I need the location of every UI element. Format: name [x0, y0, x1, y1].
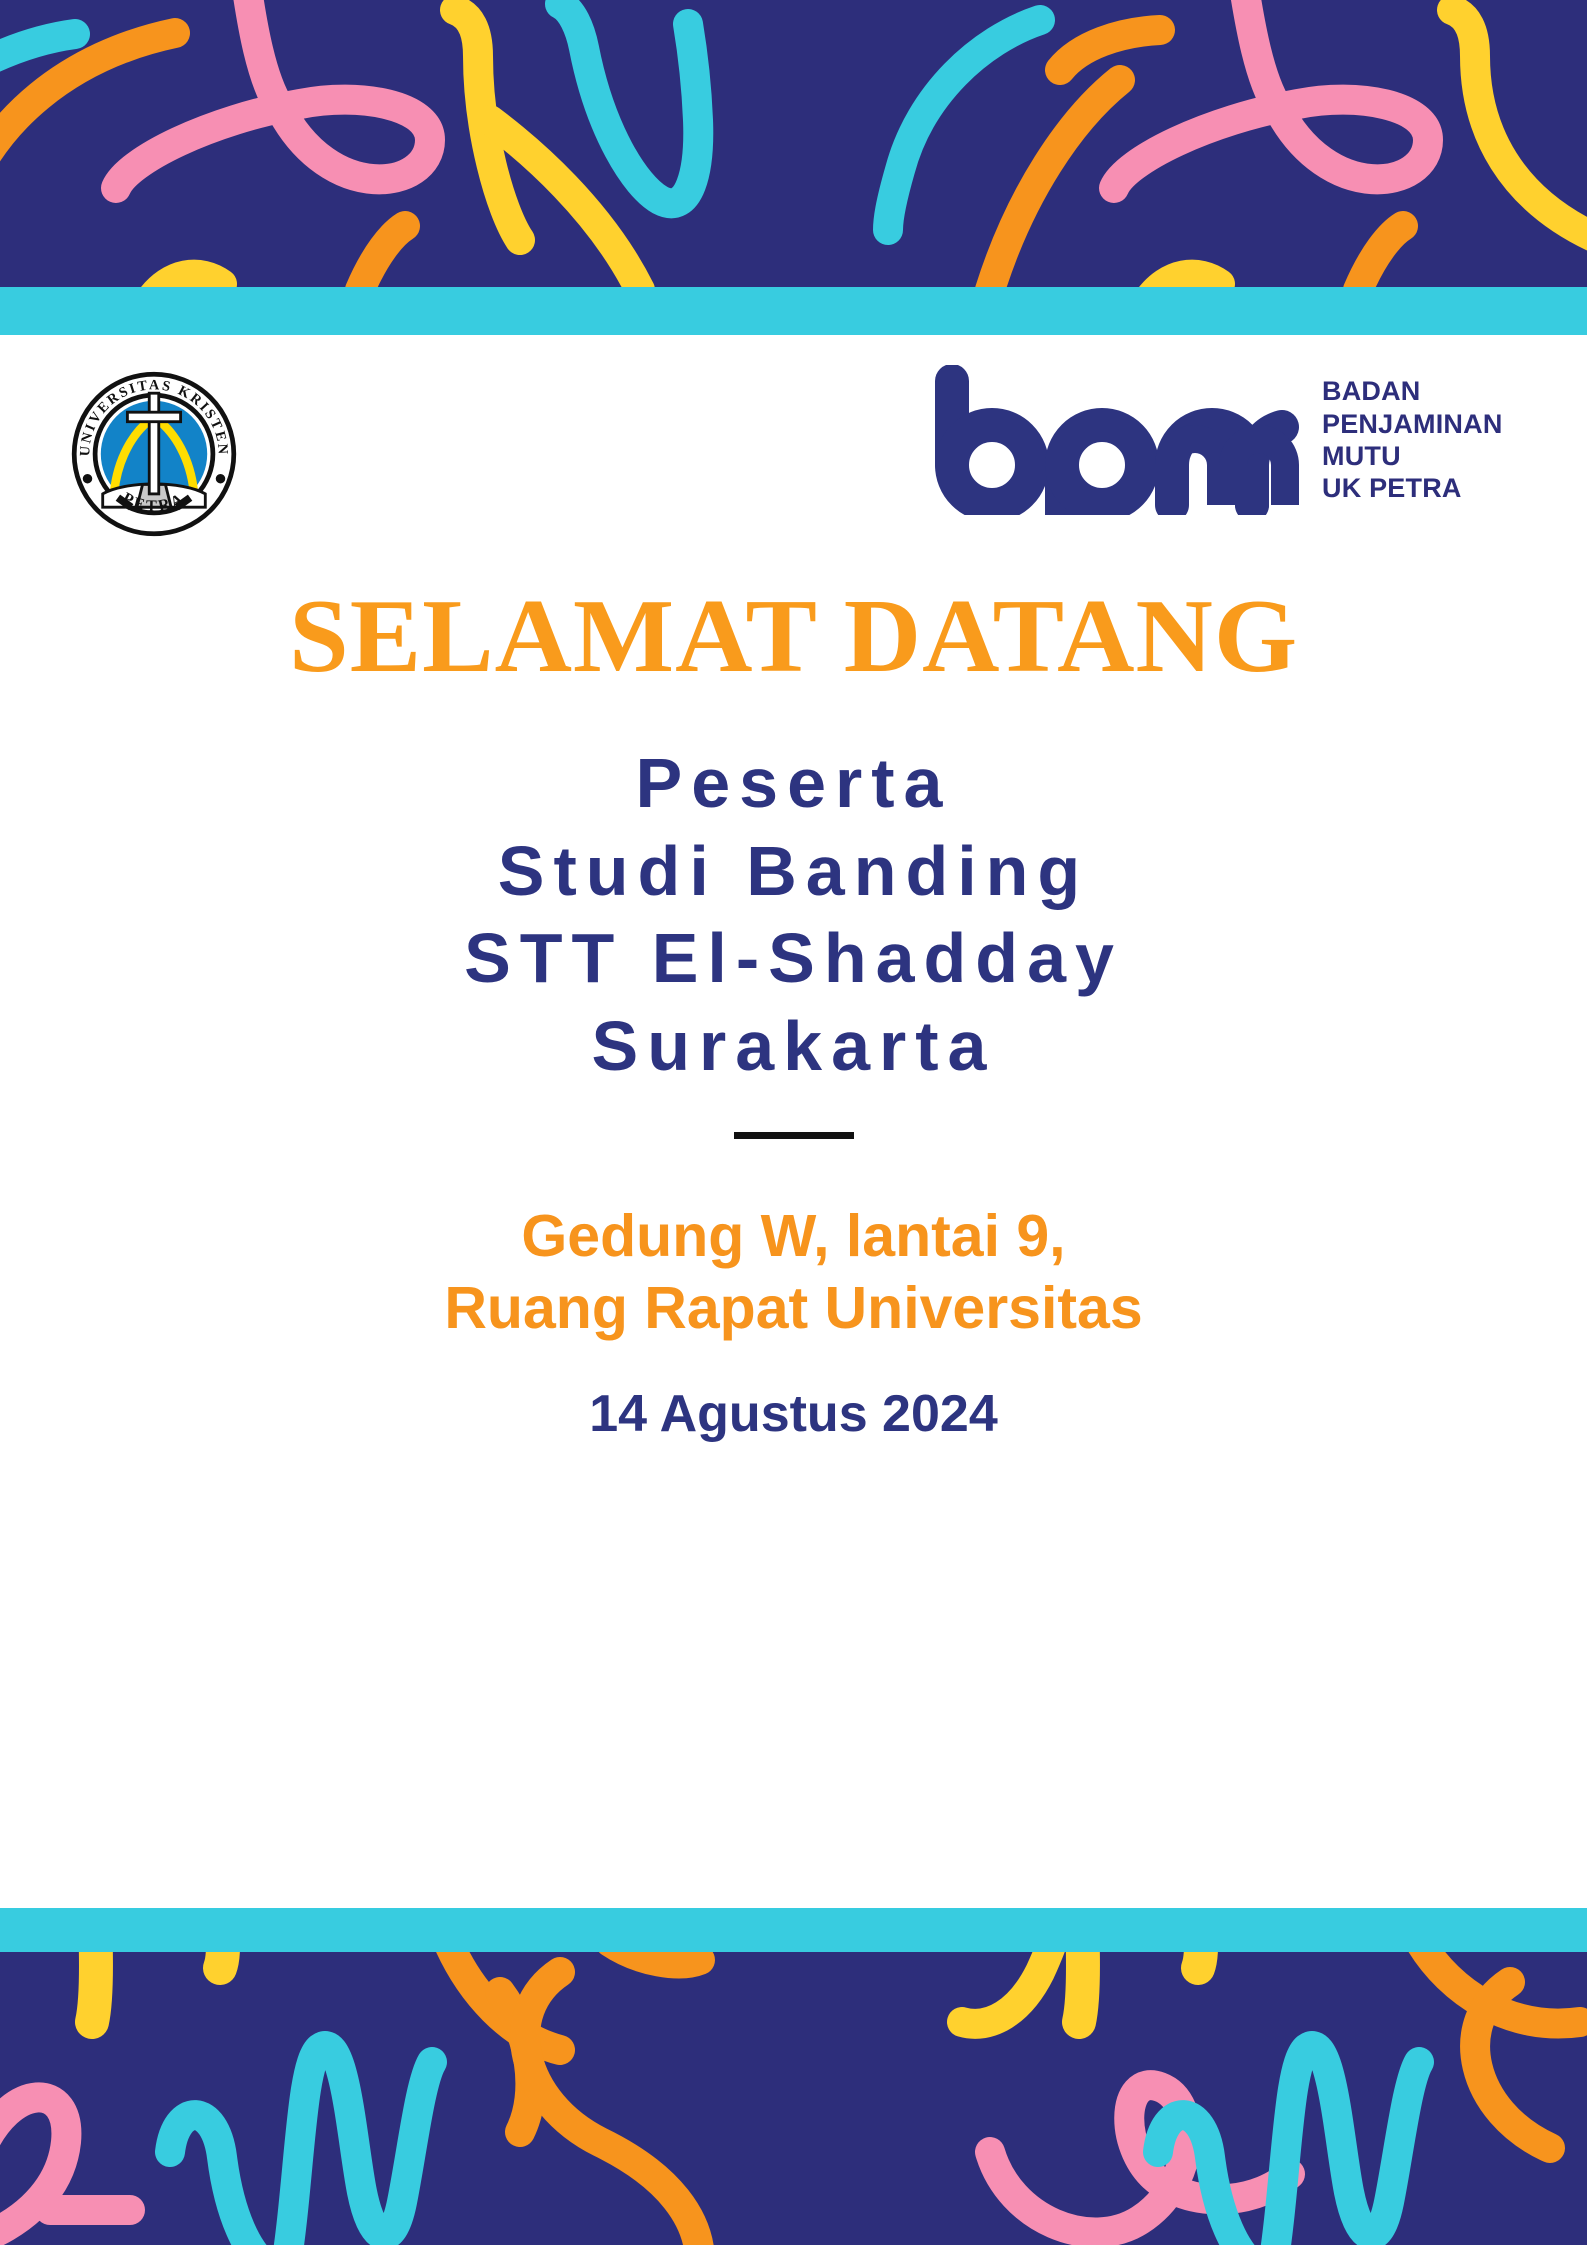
bpm-line-3: MUTU: [1322, 440, 1503, 472]
poster-content: UNIVERSITAS KRISTEN PETRA: [0, 335, 1587, 1908]
subject-line-4: Surakarta: [464, 1003, 1123, 1091]
subject-line-1: Peserta: [464, 740, 1123, 828]
uk-petra-seal-icon: UNIVERSITAS KRISTEN PETRA: [24, 359, 284, 549]
welcome-poster: UNIVERSITAS KRISTEN PETRA: [0, 0, 1587, 2245]
page-title: SELAMAT DATANG: [289, 583, 1298, 688]
top-accent-rule: [0, 287, 1587, 335]
subject-line-3: STT El-Shadday: [464, 915, 1123, 1003]
bpm-line-4: UK PETRA: [1322, 472, 1503, 504]
section-divider: [734, 1132, 854, 1139]
event-date: 14 Agustus 2024: [589, 1383, 997, 1445]
top-decorative-banner: [0, 0, 1587, 287]
venue-line-2: Ruang Rapat Universitas: [444, 1273, 1142, 1345]
subject-block: Peserta Studi Banding STT El-Shadday Sur…: [464, 740, 1123, 1090]
bpm-wordmark-icon: [930, 365, 1300, 515]
bpm-logo: BADAN PENJAMINAN MUTU UK PETRA: [930, 365, 1503, 515]
bpm-line-2: PENJAMINAN: [1322, 408, 1503, 440]
bottom-accent-rule: [0, 1908, 1587, 1952]
bpm-subtitle: BADAN PENJAMINAN MUTU UK PETRA: [1322, 375, 1503, 505]
bottom-decorative-banner: [0, 1952, 1587, 2245]
venue-block: Gedung W, lantai 9, Ruang Rapat Universi…: [444, 1201, 1142, 1345]
divider-wrap: [0, 1132, 1587, 1139]
bpm-line-1: BADAN: [1322, 375, 1503, 407]
subject-line-2: Studi Banding: [464, 828, 1123, 916]
logo-row: UNIVERSITAS KRISTEN PETRA: [0, 335, 1587, 573]
squiggle-pattern-bottom: [0, 1952, 1587, 2245]
venue-line-1: Gedung W, lantai 9,: [444, 1201, 1142, 1273]
squiggle-pattern-top: [0, 0, 1587, 287]
